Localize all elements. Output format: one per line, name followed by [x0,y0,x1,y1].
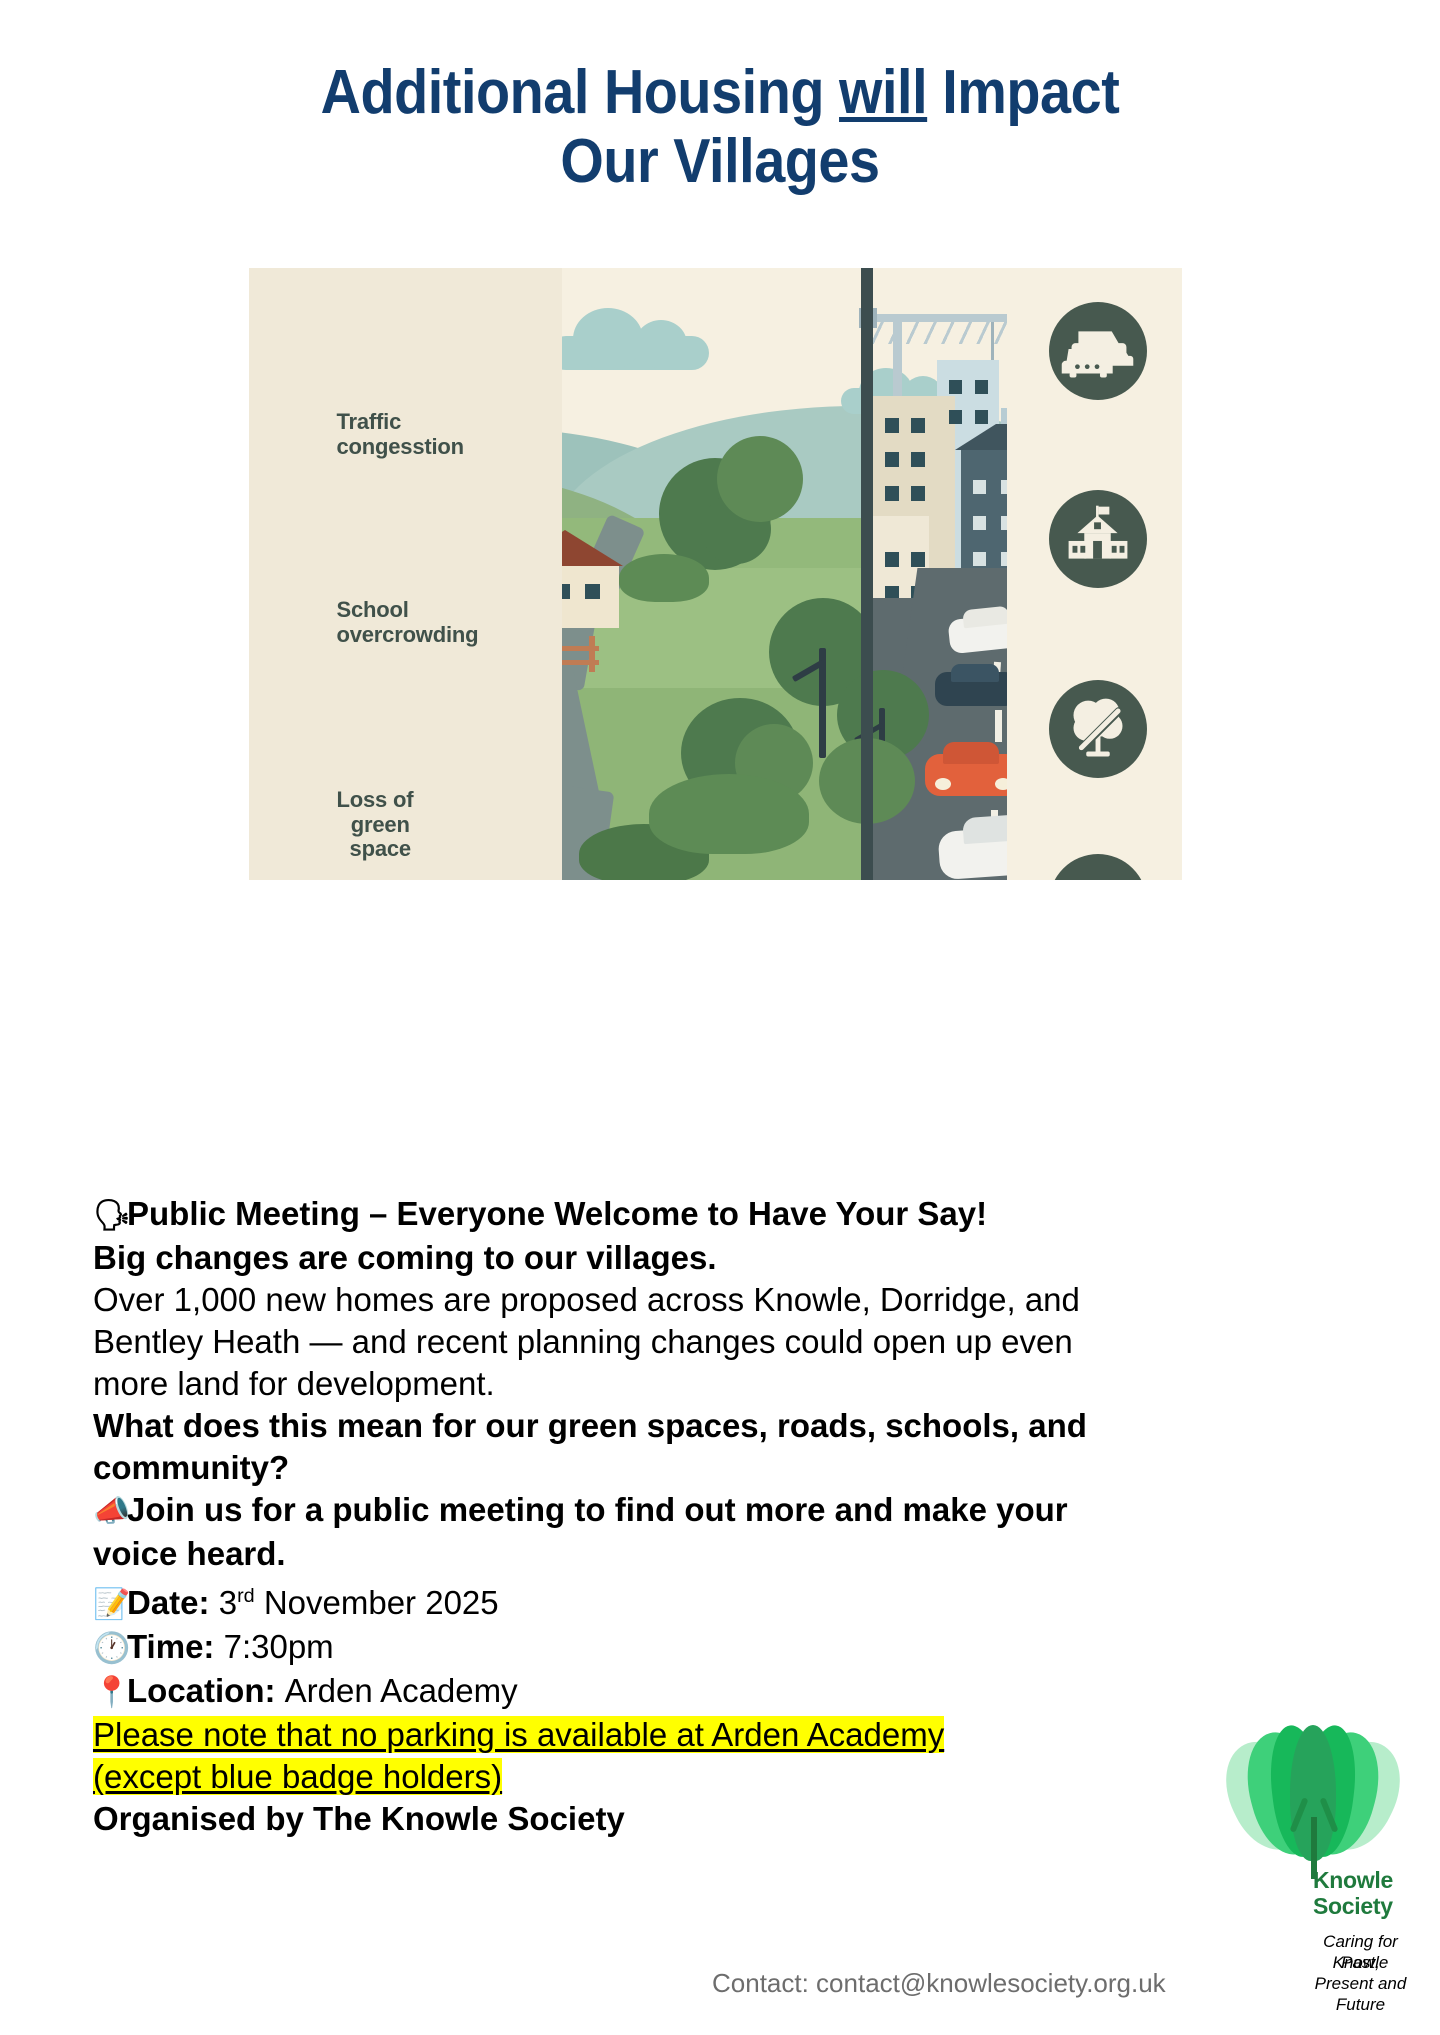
icon-label-line-2: green space [337,813,425,862]
title-line-2: Our Villages [560,127,879,196]
car-headlight [935,778,951,790]
join-line-1: 📣Join us for a public meeting to find ou… [93,1489,1263,1533]
loss-of-green-space-label: Loss of green space [249,788,424,813]
join-text: Join us for a public meeting to find out… [127,1491,1068,1528]
speaking-head-icon: 🗣 [93,1195,127,1237]
village-impact-illustration: Traffic congesstion [249,268,1182,880]
knowle-society-logo: Knowle Society Caring for Knowle Past, P… [1228,1725,1398,1985]
window [885,486,899,501]
ambulance-icon [1049,854,1147,880]
window [973,480,986,494]
time-label: Time: [127,1628,214,1665]
crane-jib-truss [863,322,1023,344]
logo-name: Knowle Society [1228,1867,1398,1893]
logo-name-line-1: Knowle [1313,1867,1393,1893]
traffic-congestion-label: Traffic congesstion [249,410,424,435]
title-part-pre: Additional Housing [321,58,839,127]
time-value: 7:30pm [224,1628,334,1665]
organiser-line: Organised by The Knowle Society [93,1798,1263,1840]
window [975,380,988,394]
window [885,452,899,467]
window [911,552,925,567]
date-label: Date: [127,1584,210,1621]
loss-of-green-space-icon [1049,680,1147,778]
car-icon [951,664,999,682]
window [973,552,986,566]
question-line-2: community? [93,1447,1263,1489]
subheadline-line: Big changes are coming to our villages. [93,1237,1263,1279]
crane-jib [863,314,1023,322]
date-line: 📝Date: 3rd November 2025 [93,1575,1263,1626]
poster-body: 🗣Public Meeting – Everyone Welcome to Ha… [93,1193,1263,1840]
parking-note-text-1: Please note that no parking is available… [93,1716,944,1753]
car-icon [943,742,999,764]
bush [649,774,809,854]
window [973,516,986,530]
traffic-congestion-icon [1049,302,1147,400]
date-value-number: 3 [219,1584,237,1621]
tree-icon [717,436,803,522]
window [911,452,925,467]
icon-label-line-1: Loss of [337,788,414,813]
paragraph-line-1: Over 1,000 new homes are proposed across… [93,1279,1263,1321]
fence [589,636,595,672]
window [975,410,988,424]
window [949,410,962,424]
logo-tagline: Caring for Knowle Past, Present and Futu… [1218,1931,1408,1952]
title-part-post: Impact [927,58,1119,127]
location-value: Arden Academy [285,1672,518,1709]
paragraph-line-2: Bentley Heath — and recent planning chan… [93,1321,1263,1363]
paragraph-line-3: more land for development. [93,1363,1263,1405]
school-overcrowding-icon [1049,490,1147,588]
icon-label-line-1: School [337,598,409,623]
logo-tagline-line-2: Past, Present and Future [1313,1952,1408,2015]
icon-label-line-2: congesstion [337,435,464,460]
headline-text: Public Meeting – Everyone Welcome to Hav… [127,1195,987,1232]
logo-name-line-2: Society [1313,1893,1393,1919]
headline-line: 🗣Public Meeting – Everyone Welcome to Ha… [93,1193,1263,1237]
window [911,418,925,433]
school-overcrowding-label: School overcrowding [249,598,424,623]
icon-label-line-2: overcrowding [337,623,479,648]
poster-page: Additional Housing will Impact Our Villa… [0,0,1440,2035]
window [585,584,600,599]
window [885,552,899,567]
time-line: 🕐Time: 7:30pm [93,1626,1263,1670]
parking-note-line-2: (except blue badge holders) [93,1756,1263,1798]
page-title: Additional Housing will Impact Our Villa… [72,58,1368,197]
window [885,418,899,433]
parking-note-line-1: Please note that no parking is available… [93,1714,1263,1756]
icon-label-line-1: Traffic [337,410,402,435]
cloud-icon [549,336,709,370]
megaphone-icon: 📣 [93,1491,127,1533]
title-line-1: Additional Housing will Impact [321,58,1120,127]
location-line: 📍Location: Arden Academy [93,1670,1263,1714]
window [911,486,925,501]
question-line-1: What does this mean for our green spaces… [93,1405,1263,1447]
location-label: Location: [127,1672,275,1709]
parking-note-text-2: (except blue badge holders) [93,1758,502,1795]
calendar-icon: 📝 [93,1584,127,1626]
join-line-2: voice heard. [93,1533,1263,1575]
contact-line: Contact: contact@knowlesociety.org.uk [712,1968,1166,1999]
location-pin-icon: 📍 [93,1672,127,1714]
window [949,380,962,394]
scene-divider [861,268,873,880]
lane-marking [995,710,1002,742]
bush [619,554,709,602]
title-emphasis-will: will [839,58,927,127]
date-value-ordinal: rd [237,1585,255,1607]
date-value-rest: November 2025 [255,1584,499,1621]
clock-icon: 🕐 [93,1628,127,1670]
